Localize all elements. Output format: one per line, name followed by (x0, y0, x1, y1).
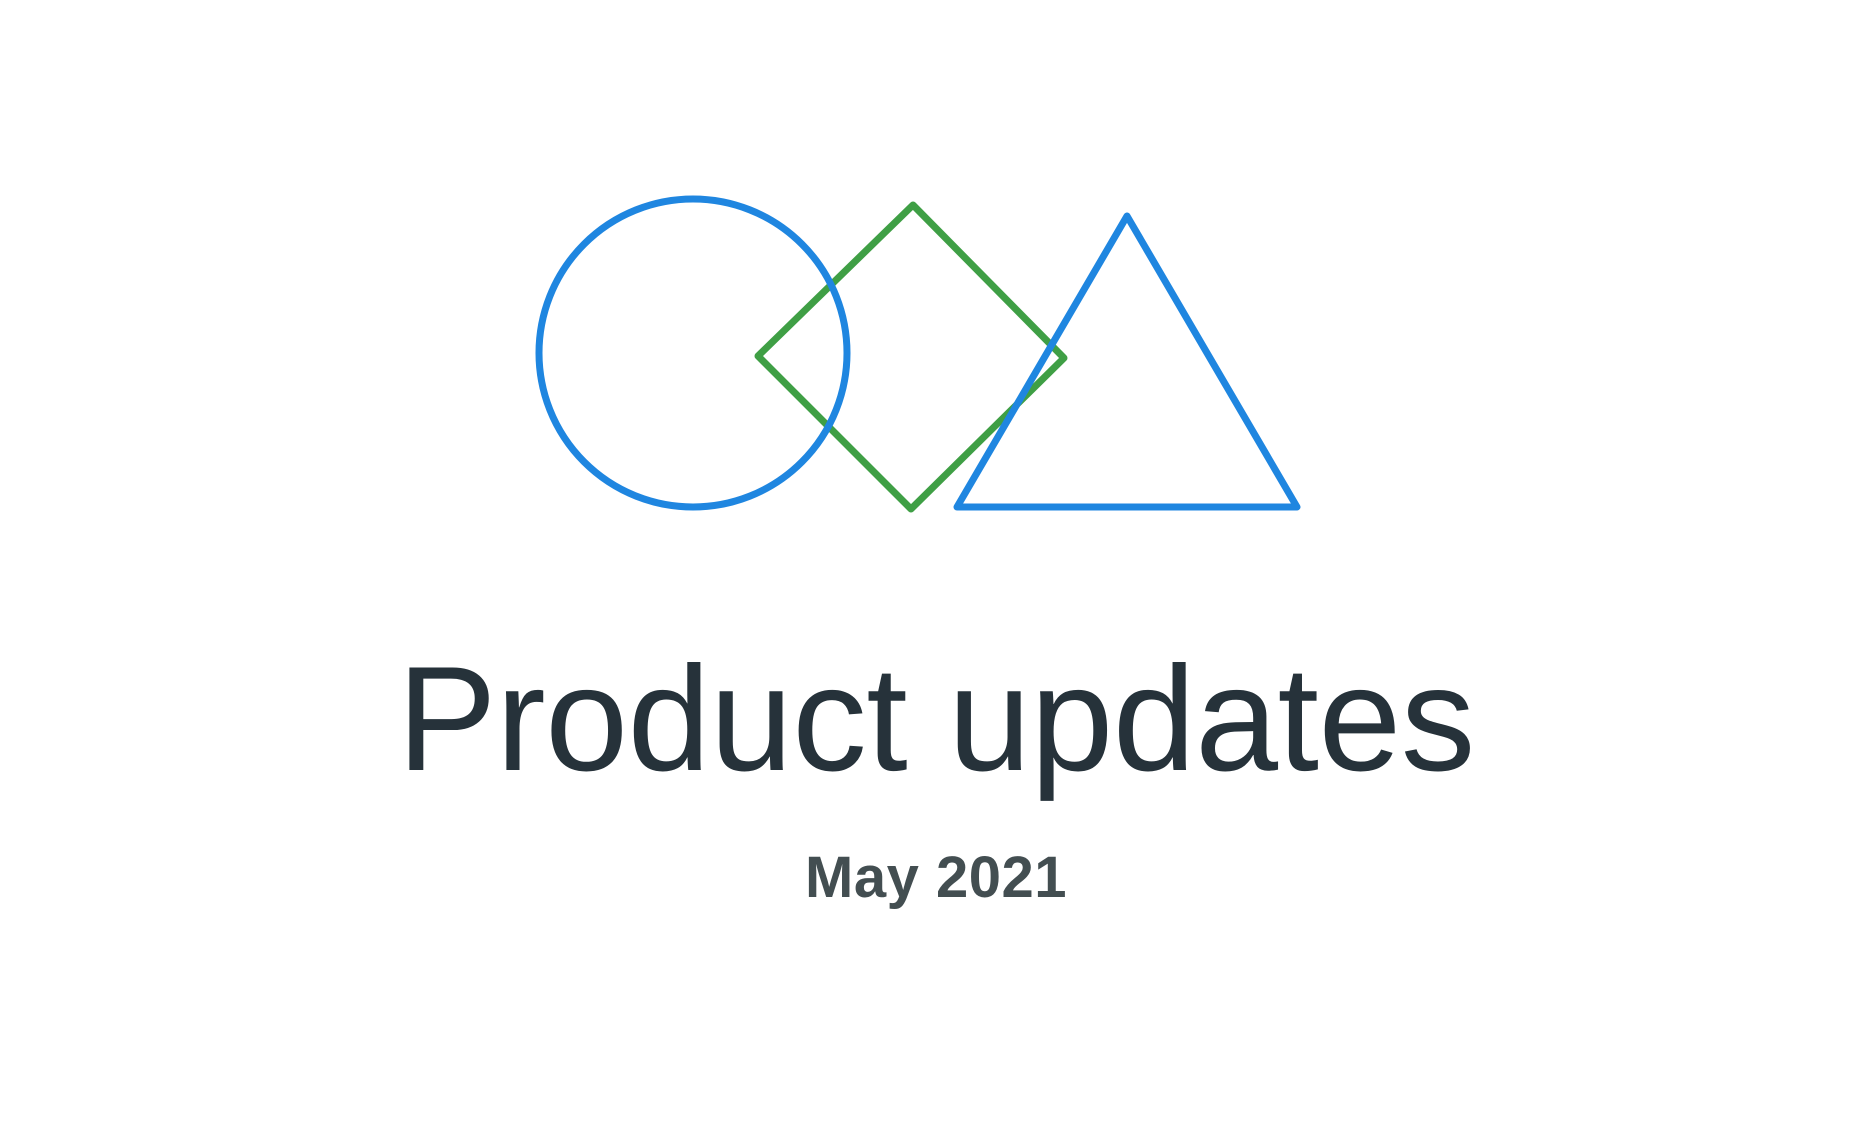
headline-block: Product updates May 2021 (0, 640, 1872, 910)
slide-canvas: Product updates May 2021 (0, 0, 1872, 1142)
triangle-shape-icon (957, 216, 1297, 507)
circle-shape-icon (539, 199, 847, 507)
three-shapes-logo (536, 172, 1336, 522)
page-subtitle-date: May 2021 (0, 798, 1872, 910)
page-title: Product updates (0, 640, 1872, 798)
